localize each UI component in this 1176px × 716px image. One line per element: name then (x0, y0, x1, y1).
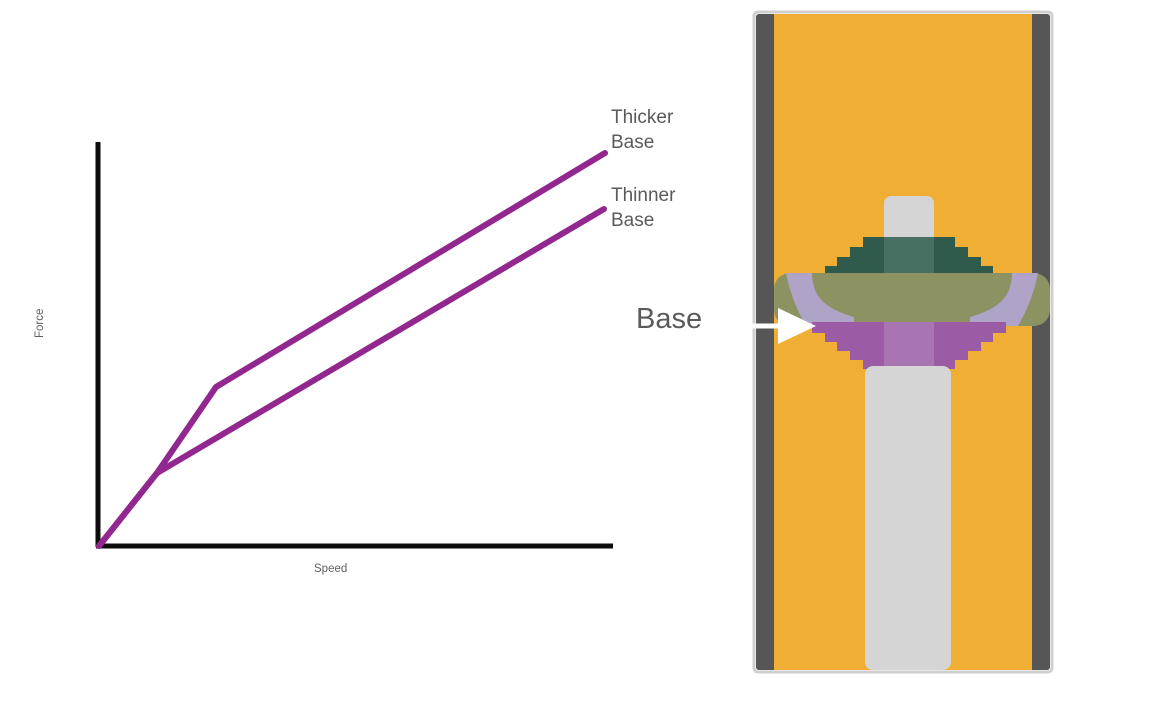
x-axis-label: Speed (314, 563, 347, 575)
lower-shaft (865, 366, 951, 670)
left-rail (756, 14, 774, 670)
base-callout-label: Base (636, 303, 702, 336)
figure-canvas: Force Speed Thicker Base Thinner Base (0, 0, 1176, 716)
series-line-thinner-base (99, 209, 604, 546)
purple-step-shaft-overlay (884, 322, 934, 369)
diagram-graphic (600, 0, 1176, 716)
component-cross-section-diagram: Base (600, 0, 1176, 716)
right-rail (1032, 14, 1050, 670)
y-axis-label: Force (34, 309, 46, 338)
series-line-thicker-base (99, 153, 605, 546)
